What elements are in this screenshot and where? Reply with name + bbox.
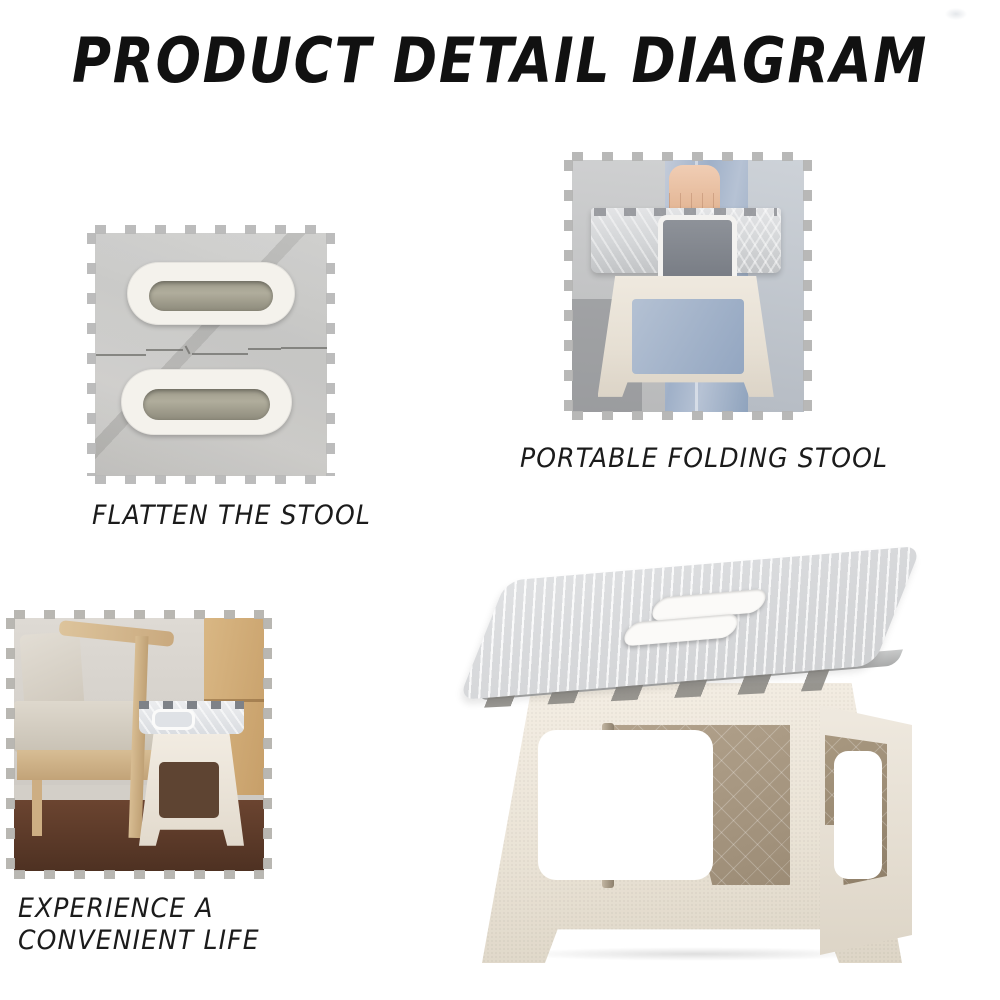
top-right-artifact bbox=[945, 8, 967, 20]
handle-slot-lower-well bbox=[143, 389, 270, 421]
stool-leg-cutout-left bbox=[538, 730, 713, 880]
photo-flatten-the-stool bbox=[95, 233, 327, 476]
main-product-render bbox=[430, 555, 975, 975]
frame-tabs-top bbox=[572, 152, 804, 161]
product-detail-page: PRODUCT DETAIL DIAGRAM FLATTEN T bbox=[0, 0, 1000, 1000]
chair-pillow bbox=[19, 631, 84, 711]
scene-stool-cutout bbox=[159, 762, 219, 818]
handle-slot-lower bbox=[121, 369, 293, 435]
stool-leg-cutout-right bbox=[834, 751, 882, 879]
caption-experience-convenient-life: EXPERIENCE A CONVENIENT LIFE bbox=[18, 893, 260, 957]
handle-slot-upper bbox=[127, 262, 294, 325]
frame-tabs-top bbox=[14, 610, 264, 619]
photo-portable-inner bbox=[572, 160, 804, 412]
flatten-seam-line bbox=[95, 347, 327, 357]
leg-frame-cutout bbox=[632, 299, 743, 375]
frame-tabs-right bbox=[326, 233, 335, 476]
caption-line-1: EXPERIENCE A bbox=[18, 893, 260, 925]
photo-life-inner bbox=[14, 618, 264, 871]
caption-flatten-the-stool: FLATTEN THE STOOL bbox=[92, 500, 371, 532]
caption-line-2: CONVENIENT LIFE bbox=[18, 925, 260, 957]
scene-stool-hinge-clips bbox=[139, 701, 244, 709]
frame-tabs-bottom bbox=[572, 411, 804, 420]
photo-portable-folding-stool bbox=[572, 160, 804, 412]
chair-leg bbox=[32, 780, 42, 836]
frame-tabs-right bbox=[803, 160, 812, 412]
frame-tabs-top bbox=[95, 225, 327, 234]
page-title: PRODUCT DETAIL DIAGRAM bbox=[70, 24, 930, 97]
frame-tabs-left bbox=[564, 160, 573, 412]
photo-flatten-inner bbox=[95, 233, 327, 476]
frame-tabs-left bbox=[6, 618, 15, 871]
frame-tabs-bottom bbox=[95, 475, 327, 484]
frame-tabs-right bbox=[263, 618, 272, 871]
caption-portable-folding-stool: PORTABLE FOLDING STOOL bbox=[520, 443, 888, 475]
frame-tabs-left bbox=[87, 233, 96, 476]
scene-stool-handle bbox=[152, 709, 196, 730]
handle-slot-upper-well bbox=[149, 281, 273, 311]
photo-experience-convenient-life bbox=[14, 618, 264, 871]
frame-tabs-bottom bbox=[14, 870, 264, 879]
